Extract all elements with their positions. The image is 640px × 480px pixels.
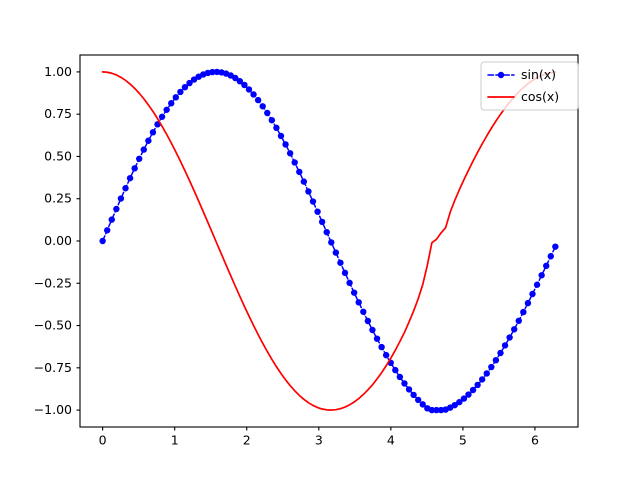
legend-label: cos(x): [521, 89, 559, 104]
data-point-marker: [360, 309, 366, 315]
data-point-marker: [493, 357, 499, 363]
legend-label: sin(x): [521, 67, 556, 82]
legend-marker-sample: [498, 72, 504, 78]
data-point-marker: [241, 82, 247, 88]
data-point-marker: [104, 227, 110, 233]
data-point-marker: [273, 125, 279, 131]
data-point-marker: [113, 206, 119, 212]
data-point-marker: [369, 327, 375, 333]
y-tick-label: 0.75: [44, 106, 72, 121]
chart-legend[interactable]: sin(x)cos(x): [481, 62, 578, 110]
data-point-marker: [127, 175, 133, 181]
data-point-marker: [538, 272, 544, 278]
data-point-marker: [333, 249, 339, 255]
data-point-marker: [342, 270, 348, 276]
plot-canvas: −1.00−0.75−0.50−0.250.000.250.500.751.00…: [0, 0, 640, 480]
data-point-marker: [529, 291, 535, 297]
data-point-marker: [150, 129, 156, 135]
data-point-marker: [401, 380, 407, 386]
data-point-marker: [287, 150, 293, 156]
data-point-marker: [305, 188, 311, 194]
x-tick-label: 4: [387, 433, 395, 448]
data-point-marker: [264, 110, 270, 116]
x-tick-label: 2: [243, 433, 251, 448]
data-point-marker: [474, 382, 480, 388]
data-point-marker: [159, 114, 165, 120]
data-point-marker: [122, 185, 128, 191]
matplotlib-figure: −1.00−0.75−0.50−0.250.000.250.500.751.00…: [0, 0, 640, 480]
data-point-marker: [259, 103, 265, 109]
y-tick-label: 0.25: [44, 191, 72, 206]
x-tick-label: 3: [315, 433, 323, 448]
data-point-marker: [246, 86, 252, 92]
data-point-marker: [374, 335, 380, 341]
data-point-marker: [99, 238, 105, 244]
data-point-marker: [168, 100, 174, 106]
data-point-marker: [278, 133, 284, 139]
data-point-marker: [324, 229, 330, 235]
data-point-marker: [502, 342, 508, 348]
data-point-marker: [255, 97, 261, 103]
x-tick-label: 0: [99, 433, 107, 448]
data-point-marker: [506, 334, 512, 340]
y-tick-label: −1.00: [34, 402, 72, 417]
y-tick-label: 0.00: [44, 233, 72, 248]
data-point-marker: [328, 239, 334, 245]
data-point-marker: [310, 198, 316, 204]
data-point-marker: [497, 350, 503, 356]
y-tick-label: 1.00: [44, 64, 72, 79]
data-point-marker: [378, 344, 384, 350]
data-point-marker: [141, 146, 147, 152]
data-point-marker: [351, 289, 357, 295]
data-point-marker: [406, 386, 412, 392]
data-point-marker: [319, 219, 325, 225]
data-point-marker: [109, 216, 115, 222]
data-point-marker: [397, 374, 403, 380]
data-point-marker: [516, 318, 522, 324]
y-tick-label: −0.50: [34, 318, 72, 333]
data-point-marker: [145, 138, 151, 144]
data-point-marker: [250, 91, 256, 97]
data-point-marker: [470, 387, 476, 393]
data-point-marker: [365, 318, 371, 324]
y-tick-label: −0.75: [34, 360, 72, 375]
data-point-marker: [173, 94, 179, 100]
data-point-marker: [163, 107, 169, 113]
data-point-marker: [292, 159, 298, 165]
data-point-marker: [410, 392, 416, 398]
data-point-marker: [383, 352, 389, 358]
data-point-marker: [356, 299, 362, 305]
data-point-marker: [392, 367, 398, 373]
data-point-marker: [548, 253, 554, 259]
data-point-marker: [136, 156, 142, 162]
data-point-marker: [131, 165, 137, 171]
y-tick-label: 0.50: [44, 148, 72, 163]
x-tick-label: 5: [459, 433, 467, 448]
data-point-marker: [465, 391, 471, 397]
data-point-marker: [118, 195, 124, 201]
data-point-marker: [282, 141, 288, 147]
data-point-marker: [520, 309, 526, 315]
data-point-marker: [552, 243, 558, 249]
data-point-marker: [415, 397, 421, 403]
data-point-marker: [511, 326, 517, 332]
x-tick-label: 6: [531, 433, 539, 448]
data-point-marker: [488, 364, 494, 370]
data-point-marker: [296, 169, 302, 175]
data-point-marker: [534, 282, 540, 288]
data-point-marker: [337, 260, 343, 266]
data-point-marker: [346, 280, 352, 286]
data-point-marker: [301, 178, 307, 184]
y-tick-label: −0.25: [34, 275, 72, 290]
x-tick-label: 1: [171, 433, 179, 448]
data-point-marker: [314, 208, 320, 214]
data-point-marker: [543, 263, 549, 269]
data-point-marker: [484, 370, 490, 376]
data-point-marker: [269, 117, 275, 123]
data-point-marker: [479, 376, 485, 382]
data-point-marker: [177, 89, 183, 95]
data-point-marker: [525, 300, 531, 306]
